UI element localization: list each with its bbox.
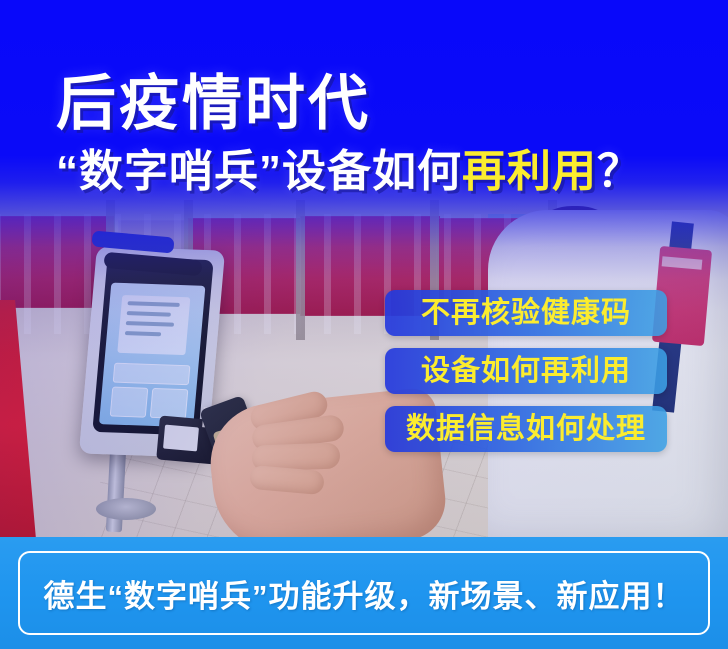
kiosk-screen-button (113, 363, 191, 386)
poster-root: 后疫情时代 “数字哨兵”设备如何再利用？ 不再核验健康码 设备如何再利用 数据信… (0, 0, 728, 649)
kiosk-label (163, 425, 199, 452)
kiosk-screen-button (150, 388, 189, 419)
badge-item-1[interactable]: 不再核验健康码 (385, 290, 667, 336)
kiosk-screen-ui (99, 283, 205, 428)
headline-question-mark: ？ (597, 147, 642, 196)
badge-item-3-label: 数据信息如何处理 (406, 415, 646, 444)
headline-line-2: “数字哨兵”设备如何再利用？ (56, 150, 642, 194)
headline-highlight: 再利用 (462, 147, 597, 196)
kiosk-base (96, 498, 156, 520)
badge-item-2-label: 设备如何再利用 (421, 357, 631, 386)
badge-item-1-label: 不再核验健康码 (421, 299, 631, 328)
wall-post (296, 200, 305, 340)
badge-item-2[interactable]: 设备如何再利用 (385, 348, 667, 394)
banner-frame: 德生“数字哨兵”功能升级，新场景、新应用！ (18, 551, 710, 635)
kiosk-screen-button (110, 387, 149, 418)
badge-list: 不再核验健康码 设备如何再利用 数据信息如何处理 (385, 290, 667, 464)
headline-line-2-part-1: “数字哨兵”设备如何 (56, 147, 462, 196)
bottom-banner: 德生“数字哨兵”功能升级，新场景、新应用！ (0, 537, 728, 649)
banner-text: 德生“数字哨兵”功能升级，新场景、新应用！ (44, 571, 685, 616)
badge-item-3[interactable]: 数据信息如何处理 (385, 406, 667, 452)
headline-line-1: 后疫情时代 (56, 74, 642, 134)
kiosk-screen (92, 256, 213, 435)
headline: 后疫情时代 “数字哨兵”设备如何再利用？ (56, 74, 642, 194)
